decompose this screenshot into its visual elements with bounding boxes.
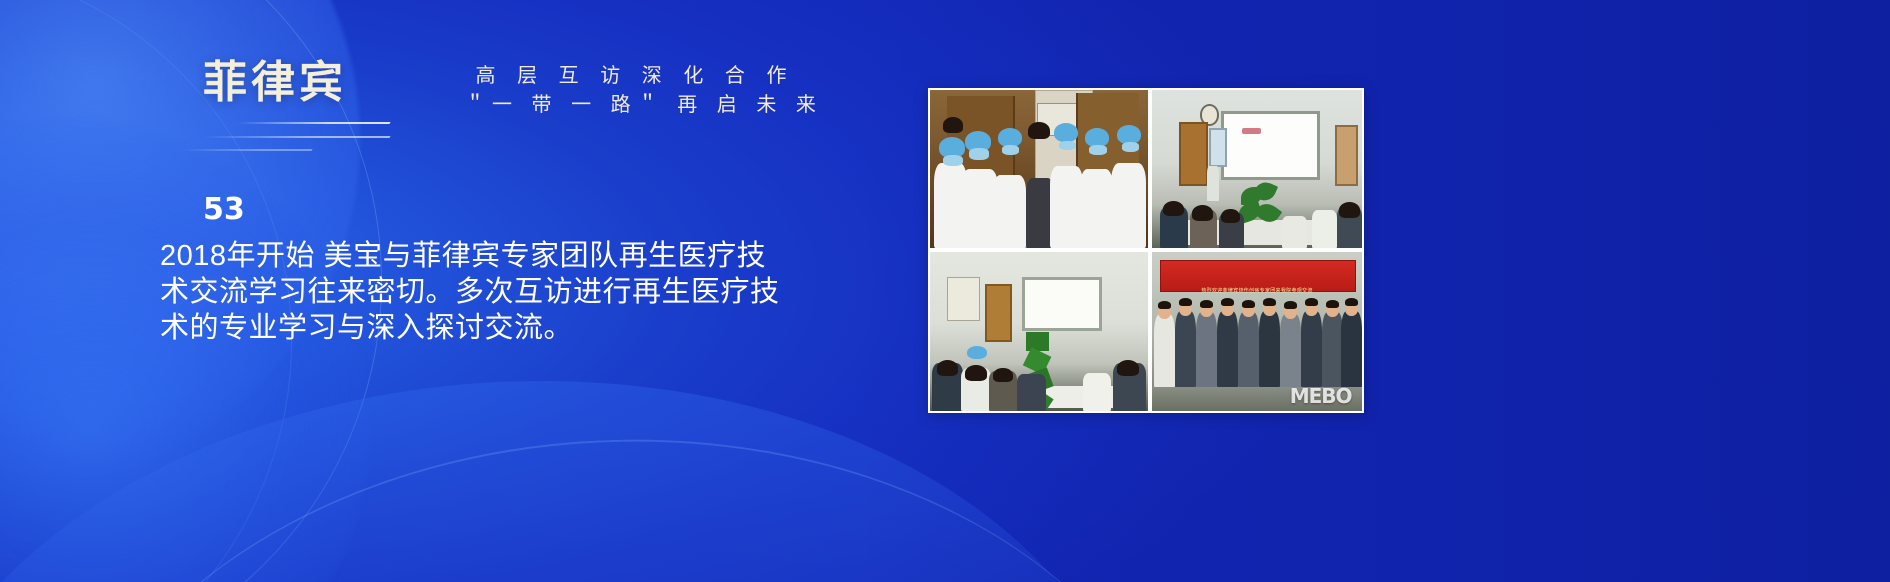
title-underline-3	[181, 149, 312, 151]
side-door	[1335, 125, 1358, 186]
subtitle-block: 高 层 互 访 深 化 合 作 ＂一 带 一 路＂ 再 启 未 来	[465, 62, 805, 120]
screen-content-mark	[1242, 128, 1261, 134]
photo-doctors-ward-round	[928, 88, 1150, 250]
paragraph-line-3: 术的专业学习与深入探讨交流。	[160, 310, 840, 346]
photo-grid: 热烈欢迎菲律宾烧伤创疡专家团来我院参观交流	[928, 88, 1364, 413]
photo-conference-presentation	[1150, 88, 1364, 250]
wall-poster	[947, 277, 980, 320]
item-number: 53	[203, 192, 245, 227]
banner-text: 热烈欢迎菲律宾烧伤创疡专家团来我院参观交流	[1152, 287, 1362, 294]
slide-root: 菲律宾 高 层 互 访 深 化 合 作 ＂一 带 一 路＂ 再 启 未 来 53…	[0, 0, 1890, 582]
body-paragraph: 2018年开始 美宝与菲律宾专家团队再生医疗技 术交流学习往来密切。多次互访进行…	[160, 238, 840, 346]
title-underline-1	[237, 122, 390, 124]
whiteboard-screen	[1022, 277, 1102, 331]
title-underline-decoration	[182, 118, 392, 154]
photo-clinic-meeting	[928, 250, 1150, 413]
clinic-door	[985, 284, 1013, 342]
projector-screen	[1221, 111, 1319, 180]
subtitle-line-1: 高 层 互 访 深 化 合 作	[465, 62, 805, 90]
paragraph-line-2: 术交流学习往来密切。多次互访进行再生医疗技	[160, 274, 840, 310]
photo-group-under-banner: 热烈欢迎菲律宾烧伤创疡专家团来我院参观交流	[1150, 250, 1364, 413]
wooden-door	[1179, 122, 1208, 186]
mebo-logo: MEBO	[1290, 384, 1352, 408]
title-underline-2	[203, 136, 390, 138]
window-pane	[1209, 128, 1228, 167]
country-title: 菲律宾	[203, 46, 347, 110]
subtitle-line-2: ＂一 带 一 路＂ 再 启 未 来	[465, 90, 805, 120]
paragraph-line-1: 2018年开始 美宝与菲律宾专家团队再生医疗技	[160, 238, 840, 274]
